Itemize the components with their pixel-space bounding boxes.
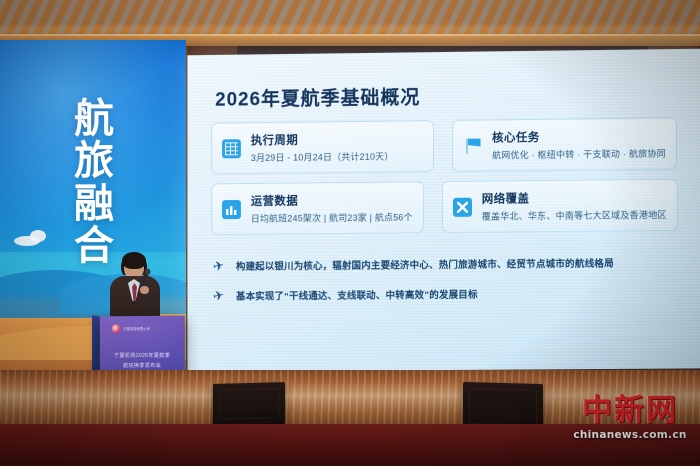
bullet-item: ✈ 基本实现了“干线通达、支线联动、中转高效”的发展目标	[213, 285, 683, 303]
card-network-coverage: 网络覆盖 覆盖华北、华东、中南等七大区域及香港地区	[442, 179, 678, 233]
bullet-item: ✈ 构建起以银川为核心，辐射国内主要经济中心、热门旅游城市、经贸节点城市的航线格…	[213, 255, 683, 273]
banner-char-2: 旅	[50, 140, 140, 182]
banner-char-1: 航	[50, 98, 140, 140]
bullet-text: 构建起以银川为核心，辐射国内主要经济中心、热门旅游城市、经贸节点城市的航线格局	[236, 256, 614, 273]
airplane-icon: ✈	[212, 258, 228, 275]
flag-icon	[463, 136, 482, 155]
card-desc: 覆盖华北、华东、中南等七大区域及香港地区	[482, 208, 667, 223]
slide-title: 2026年夏航季基础概况	[215, 82, 420, 111]
card-title: 执行周期	[251, 131, 394, 149]
card-row: 运营数据 日均航班245架次 | 航司23家 | 航点56个 网络覆盖 覆盖华北…	[211, 179, 677, 236]
cloud-shape	[30, 230, 46, 242]
card-execution-period: 执行周期 3月29日 - 10月24日（共计210天）	[211, 120, 434, 174]
card-row: 执行周期 3月29日 - 10月24日（共计210天） 核心任务 航网优化 · …	[211, 117, 677, 174]
bullet-text: 基本实现了“干线通达、支线联动、中转高效”的发展目标	[236, 287, 478, 303]
conference-photo-scene: 航 旅 融 合 2026年夏航季基础概况 执行周期 3月29日 - 10月24日…	[0, 0, 700, 466]
card-core-tasks: 核心任务 航网优化 · 枢纽中转 · 干支联动 · 航旅协同	[452, 117, 677, 172]
airplane-icon: ✈	[212, 287, 228, 304]
banner-char-3: 融	[50, 183, 140, 225]
slide-bullet-list: ✈ 构建起以银川为核心，辐射国内主要经济中心、热门旅游城市、经贸节点城市的航线格…	[213, 255, 683, 319]
bar-chart-icon	[222, 199, 241, 218]
card-desc: 3月29日 - 10月24日（共计210天）	[251, 150, 394, 164]
card-title: 网络覆盖	[482, 189, 667, 207]
podium-org-name: 宁夏机场有限公司	[123, 326, 150, 331]
calendar-icon	[222, 139, 241, 158]
banner-slogan: 航 旅 融 合	[50, 98, 140, 268]
presentation-slide: 2026年夏航季基础概况 执行周期 3月29日 - 10月24日（共计210天）…	[187, 49, 700, 372]
podium-title-line-1: 宁夏机场2026年夏航季	[107, 352, 178, 362]
card-desc: 航网优化 · 枢纽中转 · 干支联动 · 航旅协同	[492, 147, 666, 162]
hair-top	[122, 252, 146, 269]
watermark: 中新网 chinanews.com.cn	[568, 396, 692, 441]
airline-logo-mark-icon	[112, 324, 121, 333]
network-icon	[453, 197, 472, 216]
slide-card-grid: 执行周期 3月29日 - 10月24日（共计210天） 核心任务 航网优化 · …	[211, 117, 677, 244]
card-title: 运营数据	[251, 191, 413, 209]
watermark-logo: 中新网	[568, 396, 692, 426]
speaker-person	[104, 252, 166, 324]
podium-org-logo: 宁夏机场有限公司	[112, 324, 150, 333]
card-operating-data: 运营数据 日均航班245架次 | 航司23家 | 航点56个	[211, 181, 424, 235]
hand	[140, 286, 149, 294]
card-title: 核心任务	[492, 127, 666, 145]
stage-monitor-speaker	[213, 382, 285, 426]
watermark-url: chinanews.com.cn	[568, 429, 692, 441]
card-desc: 日均航班245架次 | 航司23家 | 航点56个	[251, 210, 413, 225]
